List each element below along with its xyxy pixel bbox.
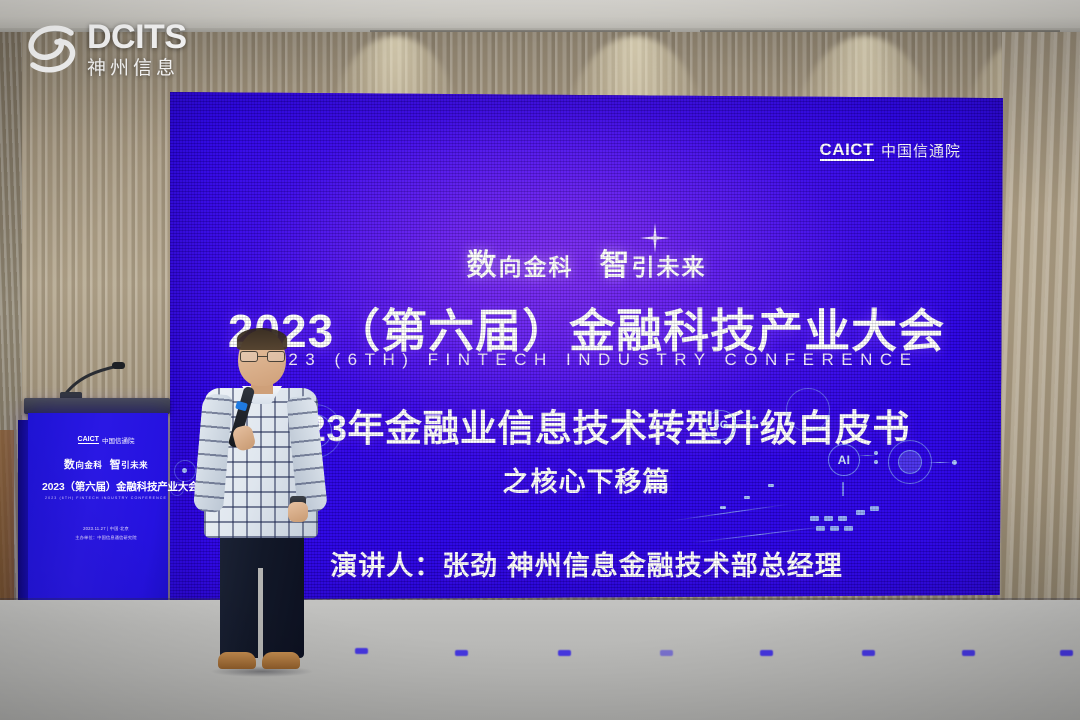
person-leg-gap xyxy=(258,568,263,658)
floor-led-reflection xyxy=(760,650,773,656)
conference-stage-photo: CAICT 中国信通院 数向金科智引未来 2023（第六届）金融科技产业大会 2… xyxy=(0,0,1080,720)
podium-organizer: 主办单位：中国信息通信研究院 xyxy=(42,535,170,541)
person-right-shoe xyxy=(262,652,300,669)
floor-led-reflection xyxy=(660,650,673,656)
caict-cn-text: 中国信通院 xyxy=(881,140,961,161)
floor-led-reflection xyxy=(1060,650,1073,656)
person-left-shoe xyxy=(218,652,256,669)
dcits-watermark-cn: 神州信息 xyxy=(87,59,187,78)
tagline-big-1: 数 xyxy=(467,249,499,282)
podium-tagline-big-2: 智 xyxy=(110,459,122,471)
speaker-person xyxy=(196,330,324,682)
left-door-frame xyxy=(0,430,14,610)
person-hair xyxy=(237,328,287,350)
tagline-small-1: 向金科 xyxy=(499,254,574,280)
podium-top-surface xyxy=(24,398,170,414)
floor-led-reflection xyxy=(355,648,368,654)
podium-caict-cn: 中国信通院 xyxy=(102,435,135,445)
podium-tagline-small-1: 向金科 xyxy=(75,460,102,470)
caict-logo: CAICT 中国信通院 xyxy=(820,140,961,161)
tagline-big-2: 智 xyxy=(600,249,632,282)
podium-caict-logo: CAICT 中国信通院 xyxy=(42,435,170,445)
podium-date-location: 2023.11.27 | 中国·北京 xyxy=(42,526,170,532)
podium-title-cn: 2023（第六届）金融科技产业大会 xyxy=(42,479,170,494)
dcits-watermark: DCITS 神州信息 xyxy=(24,16,246,82)
floor-led-reflection xyxy=(558,650,571,656)
podium-microphone-icon xyxy=(60,362,126,400)
podium-title-en: 2023 (6TH) FINTECH INDUSTRY CONFERENCE xyxy=(42,496,170,500)
screen-tagline: 数向金科智引未来 xyxy=(170,240,1003,284)
person-right-hand xyxy=(288,502,308,522)
right-curtain-panel xyxy=(1002,32,1080,632)
dcits-swirl-icon xyxy=(24,23,80,75)
caict-mark-text: CAICT xyxy=(820,141,874,161)
podium-tagline: 数向金科 智引未来 xyxy=(42,456,170,472)
podium-tagline-small-2: 引未来 xyxy=(121,460,148,470)
podium-tagline-big-1: 数 xyxy=(64,459,76,471)
tagline-small-2: 引未来 xyxy=(632,254,707,280)
dcits-watermark-en: DCITS xyxy=(87,20,187,54)
floor-led-reflection xyxy=(862,650,875,656)
floor-led-reflection xyxy=(962,650,975,656)
podium-caict-mark: CAICT xyxy=(78,436,99,444)
podium-artwork: CAICT 中国信通院 数向金科 智引未来 2023（第六届）金融科技产业大会 … xyxy=(42,433,170,563)
glasses-icon xyxy=(240,351,285,362)
stage-floor xyxy=(0,600,1080,720)
floor-led-reflection xyxy=(455,650,468,656)
